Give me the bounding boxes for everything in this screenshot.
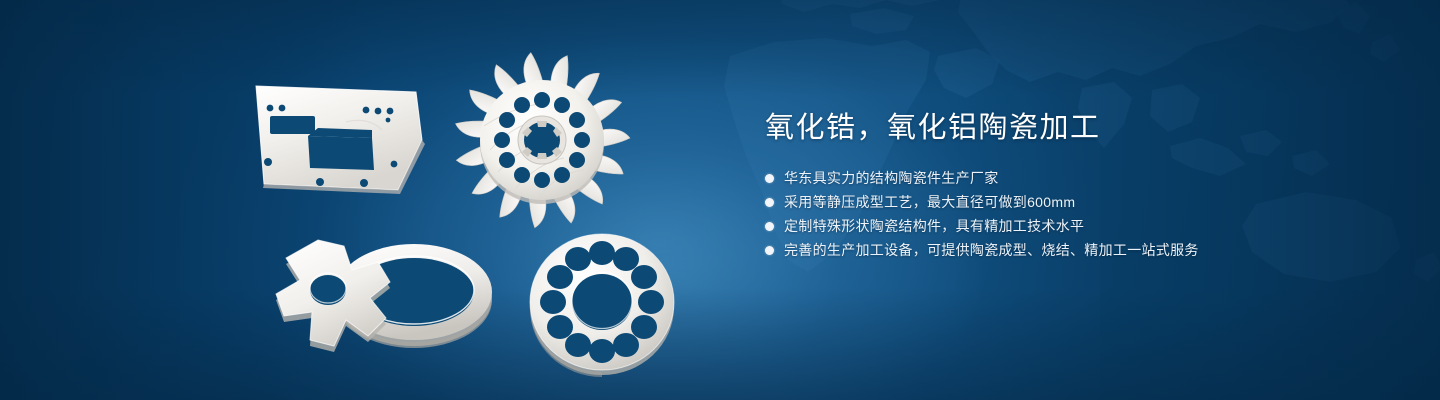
bullet-dot-icon bbox=[765, 222, 774, 231]
bullet-dot-icon bbox=[765, 174, 774, 183]
list-item-label: 定制特殊形状陶瓷结构件，具有精加工技术水平 bbox=[784, 214, 1084, 238]
bullet-dot-icon bbox=[765, 246, 774, 255]
ceramic-impeller-disc bbox=[452, 52, 636, 232]
page-title: 氧化锆，氧化铝陶瓷加工 bbox=[765, 108, 1325, 148]
ceramic-perforated-ring-disc bbox=[518, 228, 688, 378]
ceramic-cross-plate-and-ring bbox=[256, 226, 504, 366]
bullet-dot-icon bbox=[765, 198, 774, 207]
list-item: 定制特殊形状陶瓷结构件，具有精加工技术水平 bbox=[765, 214, 1325, 238]
product-photo-cluster bbox=[0, 0, 720, 400]
ceramic-mounting-plate bbox=[248, 78, 430, 200]
list-item: 完善的生产加工设备，可提供陶瓷成型、烧结、精加工一站式服务 bbox=[765, 238, 1325, 262]
promo-banner: 氧化锆，氧化铝陶瓷加工 华东具实力的结构陶瓷件生产厂家 采用等静压成型工艺，最大… bbox=[0, 0, 1440, 400]
list-item-label: 华东具实力的结构陶瓷件生产厂家 bbox=[784, 166, 999, 190]
feature-list: 华东具实力的结构陶瓷件生产厂家 采用等静压成型工艺，最大直径可做到600mm 定… bbox=[765, 166, 1325, 262]
list-item: 采用等静压成型工艺，最大直径可做到600mm bbox=[765, 190, 1325, 214]
list-item-label: 采用等静压成型工艺，最大直径可做到600mm bbox=[784, 190, 1075, 214]
list-item-label: 完善的生产加工设备，可提供陶瓷成型、烧结、精加工一站式服务 bbox=[784, 238, 1199, 262]
banner-text-column: 氧化锆，氧化铝陶瓷加工 华东具实力的结构陶瓷件生产厂家 采用等静压成型工艺，最大… bbox=[765, 108, 1325, 262]
list-item: 华东具实力的结构陶瓷件生产厂家 bbox=[765, 166, 1325, 190]
